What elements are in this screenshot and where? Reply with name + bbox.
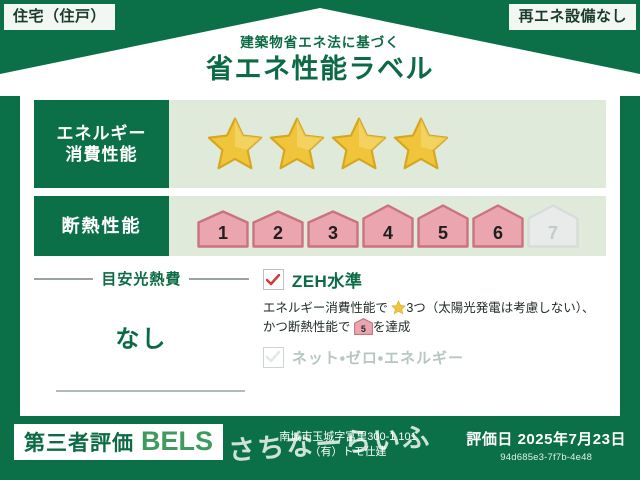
star-icon bbox=[329, 115, 389, 173]
insulation-level-number: 3 bbox=[307, 224, 359, 242]
check-icon bbox=[266, 274, 280, 286]
net-zero-energy-row: ネット・ゼロ・エネルギー bbox=[263, 347, 606, 368]
badge-renewable-equipment: 再エネ設備なし bbox=[509, 4, 636, 30]
zeh-desc-part1: エネルギー消費性能で bbox=[263, 301, 388, 315]
evaluation-date-value: 2025年7月23日 bbox=[518, 431, 626, 448]
badge-building-type: 住宅（住戸） bbox=[4, 4, 115, 30]
address-line-2: （有）トモ仕建 bbox=[218, 444, 478, 461]
third-party-label: 第三者評価 bbox=[24, 433, 134, 454]
address-line-1: 南城市玉城字富里300-1 101 bbox=[218, 430, 478, 444]
insulation-level-house: 1 bbox=[197, 210, 249, 248]
evaluation-date-block: 評価日 2025年7月23日 94d685e3-7f7b-4e48 bbox=[466, 428, 626, 463]
insulation-label-text: 断熱性能 bbox=[62, 215, 142, 238]
star-icon bbox=[267, 115, 327, 173]
energy-label-line2: 消費性能 bbox=[66, 144, 138, 165]
title-subtitle: 建築物省エネ法に基づく bbox=[0, 36, 640, 51]
bels-mark: BELS bbox=[141, 428, 213, 455]
label-card: エネルギー 消費性能 断熱性能 1234567 目安光熱費 bbox=[20, 90, 620, 416]
cost-rule-left bbox=[34, 278, 93, 280]
page-title: 省エネ性能ラベル bbox=[0, 54, 640, 85]
insulation-level-scale: 1234567 bbox=[197, 204, 579, 248]
energy-label-line1: エネルギー bbox=[57, 123, 147, 144]
insulation-level-house: 5 bbox=[417, 204, 469, 248]
evaluation-id: 94d685e3-7f7b-4e48 bbox=[466, 452, 626, 463]
net-zero-energy-label: ネット・ゼロ・エネルギー bbox=[292, 347, 464, 368]
insulation-performance-body: 1234567 bbox=[169, 196, 606, 256]
insulation-level-house: 6 bbox=[472, 204, 524, 248]
page-title-block: 建築物省エネ法に基づく 省エネ性能ラベル bbox=[0, 36, 640, 85]
star-icon bbox=[391, 115, 451, 173]
energy-performance-body bbox=[169, 100, 606, 188]
insulation-level-house: 4 bbox=[362, 204, 414, 248]
cost-bottom-divider bbox=[56, 390, 245, 392]
badge-renewable-equipment-label: 再エネ設備なし bbox=[518, 8, 627, 25]
insulation-level-number: 2 bbox=[252, 224, 304, 242]
utility-cost-header: 目安光熱費 bbox=[34, 268, 249, 289]
zeh-title: ZEH水準 bbox=[292, 267, 363, 292]
lower-section: 目安光熱費 なし ZEH水準 エネルギー消費性能で bbox=[34, 266, 606, 406]
insulation-level-number: 1 bbox=[197, 224, 249, 242]
energy-label-root: 住宅（住戸） 再エネ設備なし 建築物省エネ法に基づく 省エネ性能ラベル エネルギ… bbox=[0, 0, 640, 480]
check-icon-disabled bbox=[266, 351, 280, 363]
net-zero-checkbox[interactable] bbox=[263, 347, 284, 368]
zeh-desc-part3: を達成 bbox=[373, 320, 411, 334]
evaluation-date: 評価日 2025年7月23日 bbox=[466, 428, 626, 449]
star-icon bbox=[205, 115, 265, 173]
insulation-level-number: 7 bbox=[527, 224, 579, 242]
insulation-performance-row: 断熱性能 1234567 bbox=[34, 196, 606, 256]
zeh-header: ZEH水準 bbox=[263, 267, 606, 292]
property-address: 南城市玉城字富里300-1 101 （有）トモ仕建 bbox=[218, 430, 478, 461]
inline-star-icon bbox=[391, 300, 406, 315]
badge-building-type-label: 住宅（住戸） bbox=[13, 8, 106, 25]
insulation-level-house: 2 bbox=[252, 210, 304, 248]
zeh-description: エネルギー消費性能で 3つ（太陽光発電は考慮しない）、かつ断熱性能で 5 を達成 bbox=[263, 299, 606, 338]
cost-rule-right bbox=[189, 278, 248, 280]
bels-logo: 第三者評価 BELS bbox=[14, 424, 223, 460]
insulation-level-house: 3 bbox=[307, 210, 359, 248]
footer: 第三者評価 BELS 南城市玉城字富里300-1 101 （有）トモ仕建 さちな… bbox=[0, 416, 640, 480]
inline-house-badge: 5 bbox=[354, 318, 373, 335]
insulation-level-house: 7 bbox=[527, 204, 579, 248]
insulation-level-number: 4 bbox=[362, 224, 414, 242]
insulation-performance-label: 断熱性能 bbox=[34, 196, 169, 256]
zeh-panel: ZEH水準 エネルギー消費性能で 3つ（太陽光発電は考慮しない）、かつ断熱性能で… bbox=[249, 266, 606, 406]
insulation-level-number: 5 bbox=[417, 224, 469, 242]
zeh-checkbox[interactable] bbox=[263, 269, 284, 290]
energy-performance-label: エネルギー 消費性能 bbox=[34, 100, 169, 188]
energy-performance-row: エネルギー 消費性能 bbox=[34, 100, 606, 188]
insulation-level-number: 6 bbox=[472, 224, 524, 242]
inline-house-number: 5 bbox=[354, 325, 373, 334]
zeh-desc-star-count: 3つ bbox=[406, 301, 425, 315]
star-rating bbox=[205, 115, 451, 173]
evaluation-date-label: 評価日 bbox=[466, 431, 513, 448]
utility-cost-title: 目安光熱費 bbox=[101, 268, 181, 289]
utility-cost-panel: 目安光熱費 なし bbox=[34, 266, 249, 406]
utility-cost-value: なし bbox=[34, 319, 249, 354]
